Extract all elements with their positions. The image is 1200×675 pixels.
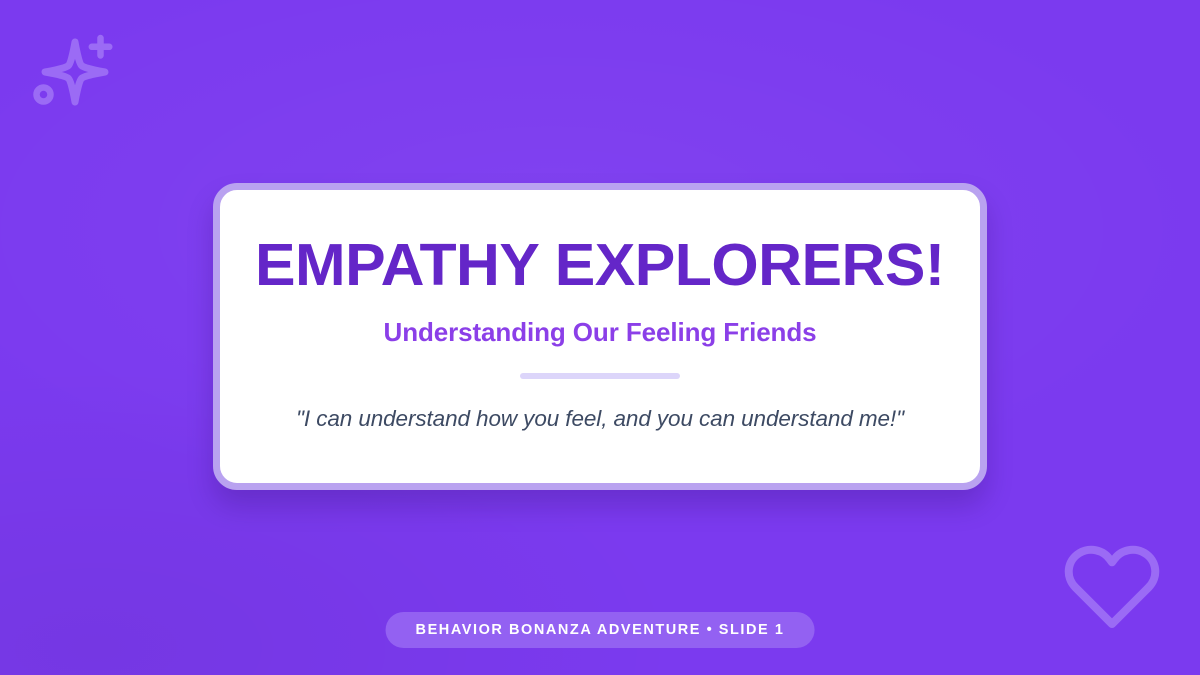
quote-text: "I can understand how you feel, and you … bbox=[296, 406, 904, 432]
title-card: EMPATHY EXPLORERS! Understanding Our Fee… bbox=[213, 183, 987, 490]
page-title: EMPATHY EXPLORERS! bbox=[255, 235, 945, 295]
page-subtitle: Understanding Our Feeling Friends bbox=[384, 317, 817, 348]
divider bbox=[520, 373, 680, 379]
heart-icon bbox=[1062, 542, 1162, 634]
sparkle-icon bbox=[28, 28, 116, 112]
footer-badge: BEHAVIOR BONANZA ADVENTURE • SLIDE 1 bbox=[386, 612, 815, 648]
